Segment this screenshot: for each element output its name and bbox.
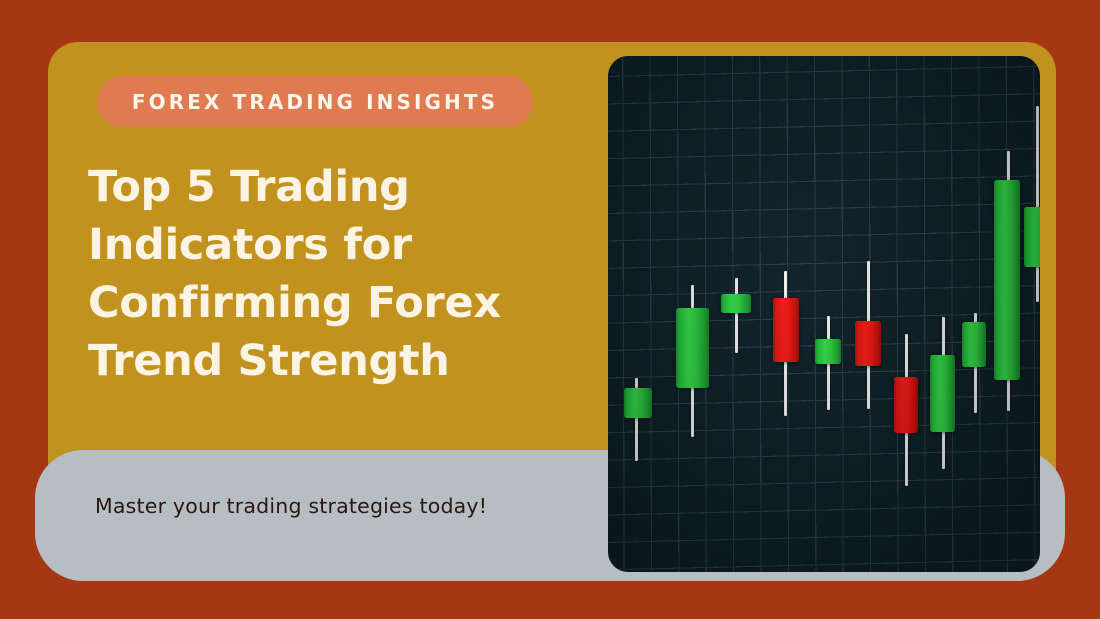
caption-text: Master your trading strategies today! — [95, 494, 487, 518]
headline-line-3: Confirming Forex — [88, 274, 558, 332]
page-title: Top 5 Trading Indicators for Confirming … — [88, 158, 558, 390]
candlestick-body-down — [855, 321, 881, 366]
candlestick-body-up — [676, 308, 709, 388]
candlestick-body-up — [624, 388, 652, 418]
headline-line-4: Trend Strength — [88, 332, 558, 390]
category-badge-label: FOREX TRADING INSIGHTS — [132, 90, 498, 114]
headline-line-2: Indicators for — [88, 216, 558, 274]
candlestick-wick — [1036, 106, 1039, 302]
poster-canvas: Master your trading strategies today! FO… — [0, 0, 1100, 619]
candlestick-body-up — [721, 294, 751, 313]
candlestick-wick — [735, 278, 738, 353]
candlestick-series — [608, 56, 1040, 572]
candlestick-body-up — [930, 355, 955, 432]
headline-line-1: Top 5 Trading — [88, 158, 558, 216]
candlestick-body-down — [894, 377, 918, 433]
candlestick-body-down — [773, 298, 799, 362]
candlestick-body-up — [1024, 207, 1040, 267]
category-badge: FOREX TRADING INSIGHTS — [97, 76, 533, 127]
candlestick-chart-panel — [608, 56, 1040, 572]
candlestick-body-up — [815, 339, 841, 364]
candlestick-body-up — [962, 322, 986, 367]
candlestick-body-up — [994, 180, 1020, 380]
